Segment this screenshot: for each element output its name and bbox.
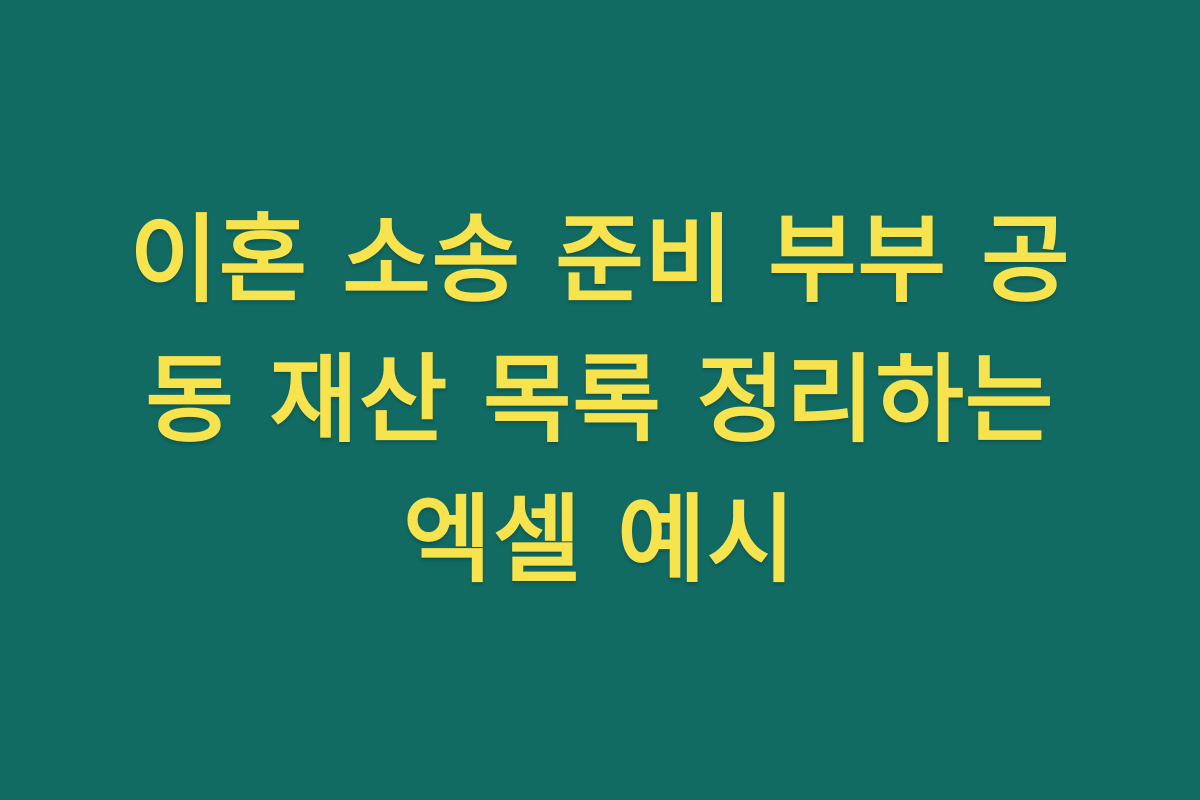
title-line-3: 엑셀 예시 (70, 470, 1130, 610)
thumbnail-card: 이혼 소송 준비 부부 공 동 재산 목록 정리하는 엑셀 예시 (0, 0, 1200, 800)
title-line-2: 동 재산 목록 정리하는 (70, 330, 1130, 470)
title-line-1: 이혼 소송 준비 부부 공 (70, 190, 1130, 330)
title-block: 이혼 소송 준비 부부 공 동 재산 목록 정리하는 엑셀 예시 (70, 190, 1130, 610)
